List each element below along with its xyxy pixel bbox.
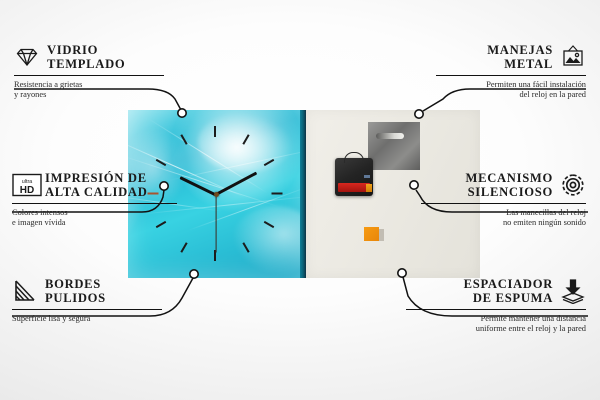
- feature-description: Permiten una fácil instalación del reloj…: [436, 80, 586, 101]
- hanger-slot: [376, 133, 404, 139]
- foam-spacer-icon: [560, 278, 586, 304]
- feature-description: Resistencia a grietas y rayones: [14, 80, 164, 101]
- feature-divider: [421, 203, 586, 204]
- feature-impresion-alta-calidad: ultra HD IMPRESIÓN DE ALTA CALIDAD Color…: [12, 171, 177, 229]
- feature-description: Las manecillas del reloj no emiten ningú…: [421, 208, 586, 229]
- feature-espaciador-espuma: ESPACIADOR DE ESPUMA Permite mantener un…: [406, 277, 586, 335]
- feature-vidrio-templado: VIDRIO TEMPLADO Resistencia a grietas y …: [14, 43, 164, 101]
- ultra-hd-icon: ultra HD: [12, 172, 38, 198]
- feature-title: IMPRESIÓN DE ALTA CALIDAD: [45, 171, 148, 200]
- infographic-canvas: VIDRIO TEMPLADO Resistencia a grietas y …: [0, 0, 600, 400]
- feature-mecanismo-silencioso: MECANISMO SILENCIOSO Las manecillas del …: [421, 171, 586, 229]
- feature-title: MANEJAS METAL: [487, 43, 553, 72]
- mechanism-hook: [344, 152, 364, 163]
- feature-manejas-metal: MANEJAS METAL Permiten una fácil instala…: [436, 43, 586, 101]
- feature-title: BORDES PULIDOS: [45, 277, 106, 306]
- feature-title: ESPACIADOR DE ESPUMA: [464, 277, 553, 306]
- gear-icon: [560, 172, 586, 198]
- metal-hanger-plate: [368, 122, 420, 170]
- feature-divider: [12, 203, 177, 204]
- feature-title: MECANISMO SILENCIOSO: [466, 171, 553, 200]
- clock-tick: [272, 193, 283, 195]
- feature-description: Permite mantener una distancia uniforme …: [406, 314, 586, 335]
- clock-tick: [214, 126, 216, 137]
- clock-center-cap: [214, 192, 219, 197]
- clock-second-hand: [215, 195, 216, 253]
- feature-description: Colores intensos e imagen vívida: [12, 208, 177, 229]
- battery-terminal: [366, 184, 372, 192]
- mechanism-detail: [364, 175, 370, 178]
- feature-description: Superficie lisa y segura: [12, 314, 162, 325]
- feature-divider: [436, 75, 586, 76]
- picture-hanger-icon: [560, 44, 586, 70]
- clock-tick: [180, 242, 187, 253]
- feature-title: VIDRIO TEMPLADO: [47, 43, 125, 72]
- feature-divider: [406, 309, 586, 310]
- feature-divider: [14, 75, 164, 76]
- feature-bordes-pulidos: BORDES PULIDOS Superficie lisa y segura: [12, 277, 162, 324]
- feature-divider: [12, 309, 162, 310]
- diamond-icon: [14, 44, 40, 70]
- clock-mechanism: [335, 158, 373, 196]
- svg-text:HD: HD: [20, 185, 34, 196]
- foam-spacer: [364, 227, 379, 241]
- beveled-edge-icon: [12, 278, 38, 304]
